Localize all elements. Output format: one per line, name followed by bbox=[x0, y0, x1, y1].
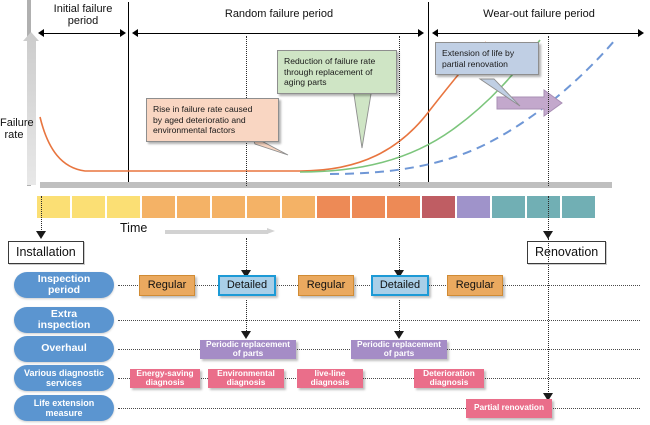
timeline-block bbox=[282, 196, 315, 218]
callout-extension-tail bbox=[480, 79, 520, 106]
installation-marker-arrow-icon bbox=[36, 231, 46, 239]
installation-marker-line bbox=[41, 196, 42, 232]
renovation-marker-arrow-icon bbox=[543, 231, 553, 239]
row-item-pink[interactable]: Energy-savingdiagnosis bbox=[130, 369, 200, 388]
row-item-detailed[interactable]: Detailed bbox=[371, 275, 429, 296]
time-direction-arrow-icon bbox=[165, 228, 275, 235]
timeline-block bbox=[527, 196, 560, 218]
row-item-purple[interactable]: Periodic replacementof parts bbox=[200, 340, 296, 359]
row-label-text: Inspectionperiod bbox=[38, 274, 91, 297]
timeline-block bbox=[562, 196, 595, 218]
link-arrow-detailed-2-overhaul-icon bbox=[394, 331, 404, 339]
timeline-block bbox=[352, 196, 385, 218]
timeline-color-bar bbox=[37, 196, 595, 218]
row-item-pink[interactable]: Environmentaldiagnosis bbox=[208, 369, 284, 388]
timeline-block bbox=[177, 196, 210, 218]
row-timeline-life-extension-measure bbox=[118, 408, 640, 409]
callout-reduction-line1: Reduction of failure rate bbox=[284, 56, 390, 67]
row-label-text: Various diagnosticservices bbox=[24, 368, 104, 388]
row-item-pink[interactable]: live-linediagnosis bbox=[297, 369, 363, 388]
row-label-extra-inspection: Extrainspection bbox=[14, 307, 114, 333]
row-label-life-extension-measure: Life extensionmeasure bbox=[14, 395, 114, 421]
link-detailed-2-to-overhaul bbox=[399, 300, 400, 335]
callout-rise-line3: environmental factors bbox=[153, 125, 272, 136]
arrow-line bbox=[165, 230, 268, 234]
row-item-regular[interactable]: Regular bbox=[447, 275, 503, 296]
row-label-overhaul: Overhaul bbox=[14, 336, 114, 362]
timeline-block bbox=[457, 196, 490, 218]
row-label-inspection-period: Inspectionperiod bbox=[14, 272, 114, 298]
callout-reduction-of-failure-rate: Reduction of failure rate through replac… bbox=[277, 50, 397, 94]
time-axis-label: Time bbox=[120, 221, 147, 235]
row-item-detailed[interactable]: Detailed bbox=[218, 275, 276, 296]
installation-event-box: Installation bbox=[8, 241, 84, 264]
callout-extension-line1: Extension of life by bbox=[442, 48, 532, 59]
callout-reduction-tail bbox=[353, 88, 372, 148]
timeline-block bbox=[422, 196, 455, 218]
row-timeline-extra-inspection bbox=[118, 320, 640, 321]
arrowhead-right-icon bbox=[267, 228, 275, 234]
callout-rise-line1: Rise in failure rate caused bbox=[153, 104, 272, 115]
timeline-block bbox=[317, 196, 350, 218]
row-label-text: Life extensionmeasure bbox=[34, 398, 95, 418]
row-label-text: Overhaul bbox=[41, 343, 87, 355]
row-item-purple[interactable]: Periodic replacementof parts bbox=[351, 340, 447, 359]
callout-reduction-line2: through replacement of bbox=[284, 67, 390, 78]
row-item-regular[interactable]: Regular bbox=[298, 275, 354, 296]
guide-line-renovation-top bbox=[548, 36, 549, 186]
diagram-root: Initial failure period Random failure pe… bbox=[0, 0, 650, 425]
callout-extension-of-life: Extension of life by partial renovation bbox=[435, 42, 539, 75]
callout-extension-line2: partial renovation bbox=[442, 59, 532, 70]
callout-rise-in-failure-rate: Rise in failure rate caused by aged dete… bbox=[146, 98, 279, 142]
link-arrow-detailed-1-overhaul-icon bbox=[241, 331, 251, 339]
timeline-block bbox=[142, 196, 175, 218]
renovation-event-box: Renovation bbox=[527, 241, 606, 264]
row-item-regular[interactable]: Regular bbox=[139, 275, 195, 296]
row-item-pink[interactable]: Partial renovation bbox=[466, 399, 552, 418]
row-label-text: Extrainspection bbox=[38, 309, 91, 332]
timeline-block bbox=[492, 196, 525, 218]
timeline-block bbox=[72, 196, 105, 218]
link-detailed-1-to-overhaul bbox=[246, 300, 247, 335]
timeline-block bbox=[107, 196, 140, 218]
row-label-various-diagnostic-services: Various diagnosticservices bbox=[14, 365, 114, 391]
timeline-block bbox=[387, 196, 420, 218]
callout-rise-line2: by aged deterioratio and bbox=[153, 115, 272, 126]
callout-reduction-line3: aging parts bbox=[284, 77, 390, 88]
timeline-block bbox=[247, 196, 280, 218]
renovation-marker-line bbox=[548, 196, 549, 232]
guide-line-renovation-lower bbox=[548, 238, 549, 396]
timeline-block bbox=[212, 196, 245, 218]
guide-line-detailed-2 bbox=[399, 36, 400, 186]
row-item-pink[interactable]: Deteriorationdiagnosis bbox=[414, 369, 484, 388]
